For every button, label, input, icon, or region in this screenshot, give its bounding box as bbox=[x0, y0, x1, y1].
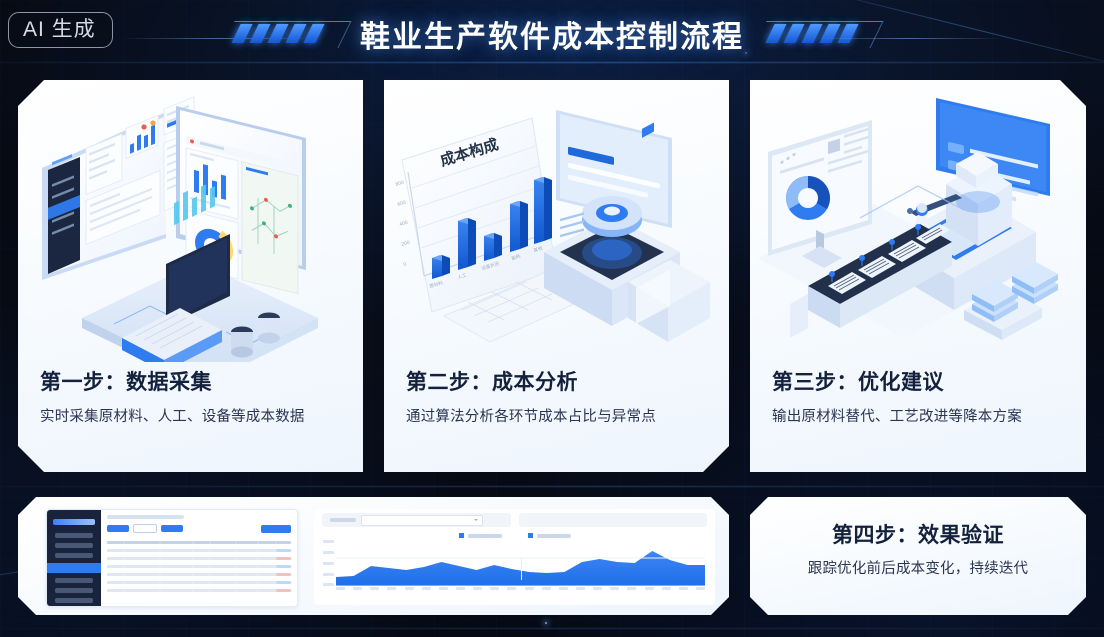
table-row bbox=[107, 586, 291, 594]
isometric-factory-svg bbox=[750, 80, 1086, 362]
page-header: 鞋业生产软件成本控制流程 bbox=[0, 6, 1104, 62]
sidebar-nav-item[interactable] bbox=[55, 553, 93, 558]
step-1-illustration bbox=[18, 80, 363, 362]
step-card-4[interactable]: 第四步：效果验证 跟踪优化前后成本变化，持续迭代 bbox=[750, 497, 1086, 615]
filter-chip-done[interactable] bbox=[161, 525, 183, 532]
infographic-canvas: AI 生成 鞋业生产软件成本控制流程 bbox=[0, 0, 1104, 637]
y-axis-labels bbox=[316, 540, 334, 586]
cost-analysis-panel[interactable] bbox=[314, 509, 715, 605]
legend-item-before[interactable] bbox=[459, 533, 502, 538]
filter-group-left[interactable] bbox=[322, 513, 511, 527]
breadcrumb bbox=[107, 515, 184, 519]
step-3-illustration bbox=[750, 80, 1086, 362]
isometric-workstation-svg bbox=[18, 80, 363, 362]
table-header-row bbox=[107, 538, 291, 546]
dashboard-sidebar[interactable] bbox=[47, 510, 101, 606]
table-row bbox=[107, 570, 291, 578]
svg-text:800: 800 bbox=[395, 180, 405, 188]
sidebar-nav-item[interactable] bbox=[55, 588, 93, 593]
dashboard-panel[interactable] bbox=[18, 497, 729, 615]
step-2-desc: 通过算法分析各环节成本占比与异常点 bbox=[406, 405, 713, 426]
background-streak bbox=[0, 486, 1104, 487]
ai-badge-label: AI 生成 bbox=[23, 19, 96, 40]
sidebar-nav-item[interactable] bbox=[55, 543, 93, 548]
chart-legend bbox=[314, 533, 715, 538]
step-card-3[interactable]: 第三步：优化建议 输出原材料替代、工艺改进等降本方案 bbox=[750, 80, 1086, 472]
cost-table bbox=[107, 538, 291, 594]
filter-label bbox=[330, 518, 356, 522]
filter-chip-all[interactable] bbox=[107, 525, 129, 532]
step-4-title: 第四步：效果验证 bbox=[750, 519, 1086, 549]
table-row bbox=[107, 562, 291, 570]
step-3-text: 第三步：优化建议 输出原材料替代、工艺改进等降本方案 bbox=[750, 362, 1086, 472]
query-button[interactable] bbox=[261, 525, 291, 533]
step-4-text: 第四步：效果验证 跟踪优化前后成本变化，持续迭代 bbox=[750, 497, 1086, 578]
step-card-2[interactable]: 成本构成 0 200 400 600 800 bbox=[384, 80, 729, 472]
step-1-desc: 实时采集原材料、人工、设备等成本数据 bbox=[40, 405, 347, 426]
cost-trend-chart bbox=[336, 540, 705, 592]
svg-text:400: 400 bbox=[399, 220, 409, 228]
step-2-title: 第二步：成本分析 bbox=[406, 366, 713, 396]
step-card-1[interactable]: 第一步：数据采集 实时采集原材料、人工、设备等成本数据 bbox=[18, 80, 363, 472]
isometric-cost-analysis-svg: 成本构成 0 200 400 600 800 bbox=[384, 80, 729, 362]
chevron-stripes-left-icon bbox=[228, 21, 344, 47]
filter-group-right[interactable] bbox=[519, 513, 708, 527]
ai-generated-badge: AI 生成 bbox=[8, 12, 113, 48]
svg-text:600: 600 bbox=[397, 200, 407, 208]
step-3-title: 第三步：优化建议 bbox=[772, 366, 1070, 396]
table-row bbox=[107, 554, 291, 562]
page-title: 鞋业生产软件成本控制流程 bbox=[360, 12, 744, 56]
sidebar-nav-item-active[interactable] bbox=[47, 563, 101, 573]
analysis-filter-row[interactable] bbox=[314, 509, 715, 527]
step-1-title: 第一步：数据采集 bbox=[40, 366, 347, 396]
sidebar-nav-item[interactable] bbox=[55, 598, 93, 603]
step-1-text: 第一步：数据采集 实时采集原材料、人工、设备等成本数据 bbox=[18, 362, 363, 472]
chevron-stripes-right-icon bbox=[760, 21, 876, 47]
sidebar-nav-item[interactable] bbox=[55, 578, 93, 583]
header-line-right bbox=[814, 38, 1004, 39]
filter-chip-pending[interactable] bbox=[133, 524, 157, 533]
cost-system-screenshot[interactable] bbox=[46, 509, 298, 607]
dimension-select[interactable] bbox=[361, 515, 483, 526]
svg-text:200: 200 bbox=[401, 240, 411, 248]
dashboard-main bbox=[101, 510, 297, 606]
table-row bbox=[107, 546, 291, 554]
table-row bbox=[107, 578, 291, 586]
step-3-desc: 输出原材料替代、工艺改进等降本方案 bbox=[772, 405, 1070, 426]
background-streak bbox=[0, 62, 1104, 63]
step-4-desc: 跟踪优化前后成本变化，持续迭代 bbox=[750, 557, 1086, 578]
x-axis-labels bbox=[336, 587, 705, 590]
svg-text:0: 0 bbox=[403, 261, 408, 268]
sidebar-nav-item[interactable] bbox=[55, 533, 93, 538]
legend-item-after[interactable] bbox=[528, 533, 571, 538]
step-2-text: 第二步：成本分析 通过算法分析各环节成本占比与异常点 bbox=[384, 362, 729, 472]
background-spark bbox=[545, 622, 547, 624]
dashboard-logo bbox=[53, 519, 95, 525]
background-streak bbox=[0, 628, 1104, 629]
chart-divider bbox=[521, 558, 522, 580]
step-2-illustration: 成本构成 0 200 400 600 800 bbox=[384, 80, 729, 362]
filter-bar[interactable] bbox=[107, 524, 291, 533]
